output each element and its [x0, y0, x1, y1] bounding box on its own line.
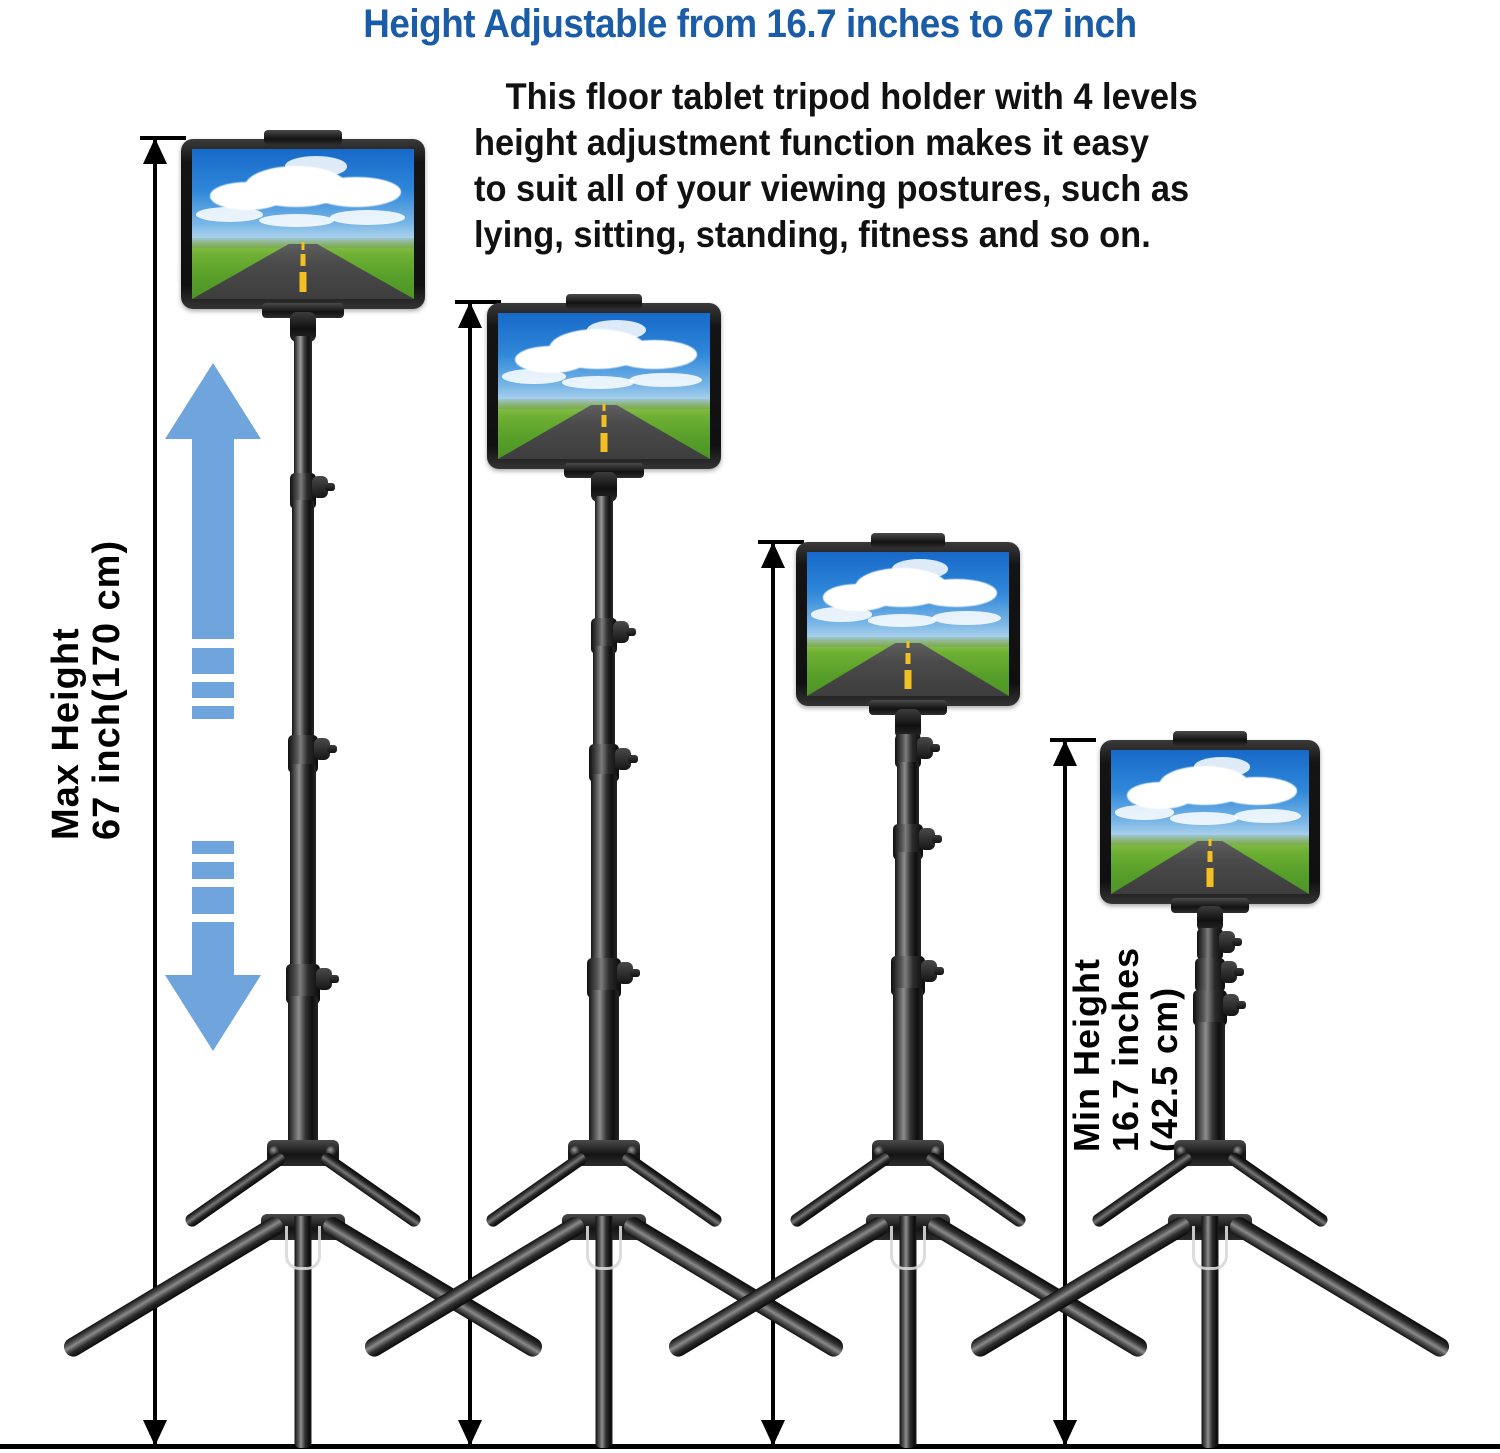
- lock-knob-2a[interactable]: [613, 621, 629, 643]
- lock-knob-3b[interactable]: [919, 828, 935, 850]
- road-center-line-2: [906, 653, 911, 665]
- arrow-shaft-lower: [192, 922, 234, 975]
- pole-section-low-3: [895, 852, 921, 966]
- dimension-arrowhead-up: [1053, 740, 1077, 766]
- road-center-line-1: [601, 433, 608, 452]
- arrow-dash-u3: [192, 706, 234, 719]
- pole-section-top-2: [595, 496, 613, 628]
- description-paragraph: This floor tablet tripod holder with 4 l…: [474, 74, 1395, 258]
- arrow-dash-d2: [192, 862, 234, 879]
- pole-section-base-4: [1195, 1022, 1225, 1148]
- tripod-spring-4: [1192, 1226, 1228, 1270]
- arrow-dash-d1: [192, 841, 234, 854]
- dimension-arrowhead-up: [761, 542, 785, 568]
- height-adjust-double-arrow: [165, 363, 261, 1051]
- tablet-device-2: [487, 303, 721, 469]
- lock-knob-2b[interactable]: [615, 748, 631, 770]
- tripod-leg-left-1: [61, 1214, 287, 1360]
- dimension-arrowhead-down: [761, 1420, 785, 1446]
- ground-baseline: [0, 1444, 1500, 1449]
- road-center-line-1: [1207, 868, 1214, 887]
- tablet-clamp-top[interactable]: [871, 533, 945, 548]
- tablet-clamp-top[interactable]: [566, 294, 642, 309]
- screen-sky: [192, 149, 414, 242]
- arrow-head-up-icon: [165, 363, 261, 439]
- lock-knob-4a[interactable]: [1219, 931, 1235, 953]
- pole-section-mid-2: [593, 646, 615, 756]
- road-center-line-3: [1209, 839, 1212, 846]
- lock-knob-4c[interactable]: [1223, 994, 1239, 1016]
- description-line-2: height adjustment function makes it easy: [474, 120, 1395, 166]
- road-center-line-2: [602, 415, 607, 427]
- tablet-screen-1: [192, 149, 414, 299]
- lock-knob-3a[interactable]: [917, 737, 933, 759]
- arrow-dash-u2: [192, 682, 234, 698]
- lock-knob-1c[interactable]: [316, 968, 332, 990]
- min-height-line-2: 16.7 inches: [1107, 947, 1146, 1152]
- tripod-spring-3: [890, 1226, 926, 1270]
- lock-knob-1a[interactable]: [312, 476, 328, 498]
- lock-knob-1b[interactable]: [314, 738, 330, 760]
- tripod-leg-right-1: [320, 1214, 546, 1360]
- dimension-shaft: [153, 136, 157, 1446]
- tripod-spring-1: [285, 1226, 321, 1270]
- dimension-arrowhead-down: [458, 1420, 482, 1446]
- arrow-shaft-upper: [192, 439, 234, 639]
- description-line-1: This floor tablet tripod holder with 4 l…: [474, 74, 1395, 120]
- tripod-spring-2: [586, 1226, 622, 1270]
- tripod-leg-right-4: [1227, 1214, 1453, 1360]
- pole-section-mid-1: [292, 500, 314, 748]
- road-center-line-1: [300, 272, 307, 292]
- road-center-line-3: [603, 404, 606, 411]
- dimension-shaft: [468, 300, 472, 1446]
- arrow-dash-d3: [192, 887, 234, 914]
- road-center-line-3: [302, 242, 305, 250]
- page-title: Height Adjustable from 16.7 inches to 67…: [60, 2, 1440, 47]
- tablet-clamp-top[interactable]: [264, 130, 342, 145]
- min-height-label: Min Height 16.7 inches (42.5 cm): [1068, 947, 1185, 1152]
- road-center-line-3: [907, 641, 910, 648]
- dimension-arrowhead-down: [1053, 1420, 1077, 1446]
- max-height-line-2: 67 inch(170 cm): [87, 540, 128, 840]
- road-center-line-2: [1208, 851, 1213, 863]
- max-height-line-1: Max Height: [46, 540, 87, 840]
- road-center-line-1: [905, 670, 912, 689]
- dimension-arrowhead-up: [143, 138, 167, 164]
- tripod-leg-left-4: [968, 1214, 1194, 1360]
- tablet-screen-3: [807, 552, 1009, 696]
- min-height-line-3: (42.5 cm): [1146, 947, 1185, 1152]
- min-height-line-1: Min Height: [1068, 947, 1107, 1152]
- screen-sky: [807, 552, 1009, 641]
- tripod-leg-right-2: [621, 1214, 847, 1360]
- tablet-device-3: [796, 542, 1020, 706]
- description-line-3: to suit all of your viewing postures, su…: [474, 166, 1395, 212]
- lock-knob-4b[interactable]: [1221, 961, 1237, 983]
- pole-section-base-1: [288, 996, 318, 1148]
- description-line-4: lying, sitting, standing, fitness and so…: [474, 212, 1395, 258]
- lock-knob-3c[interactable]: [921, 960, 937, 982]
- road-center-line-2: [301, 254, 306, 266]
- lock-collar-4c[interactable]: [1193, 990, 1227, 1026]
- pole-section-base-2: [589, 990, 619, 1148]
- dimension-arrowhead-up: [458, 302, 482, 328]
- arrow-head-down-icon: [165, 975, 261, 1051]
- dimension-arrowhead-down: [143, 1420, 167, 1446]
- tablet-screen-2: [498, 313, 710, 459]
- pole-section-low-1: [290, 764, 316, 976]
- tripod-leg-right-3: [925, 1214, 1151, 1360]
- screen-sky: [498, 313, 710, 404]
- tablet-device-1: [181, 139, 425, 309]
- tablet-clamp-top[interactable]: [1173, 731, 1247, 746]
- pole-section-base-3: [893, 988, 923, 1148]
- pole-section-top-1: [294, 336, 312, 486]
- tablet-device-4: [1100, 740, 1320, 904]
- lock-knob-2c[interactable]: [617, 962, 633, 984]
- pole-section-low-2: [591, 774, 617, 970]
- arrow-dash-u1: [192, 648, 234, 674]
- screen-sky: [1111, 750, 1309, 839]
- max-height-label: Max Height 67 inch(170 cm): [46, 540, 128, 840]
- tablet-screen-4: [1111, 750, 1309, 894]
